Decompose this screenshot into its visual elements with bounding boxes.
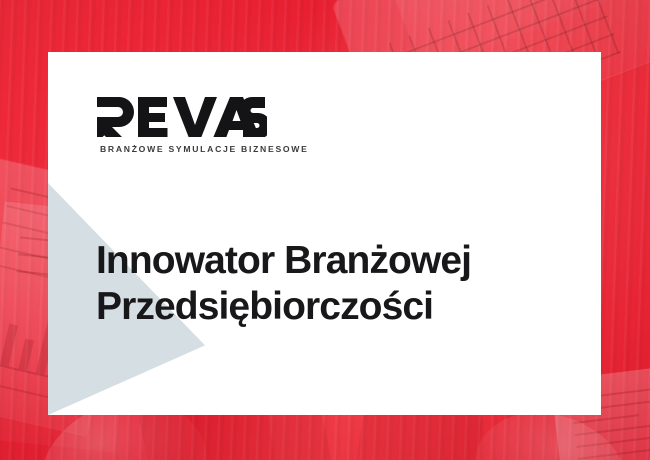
page-title-line-2: Przedsiębiorczości xyxy=(96,284,471,330)
revas-wordmark-glyphs xyxy=(97,97,267,137)
revas-tagline: BRANŻOWE SYMULACJE BIZNESOWE xyxy=(100,144,309,154)
revas-wordmark xyxy=(97,97,267,137)
slide-canvas: BRANŻOWE SYMULACJE BIZNESOWE Innowator B… xyxy=(0,0,650,460)
content-card: BRANŻOWE SYMULACJE BIZNESOWE Innowator B… xyxy=(48,52,601,415)
page-title-line-1: Innowator Branżowej xyxy=(96,238,471,284)
page-title: Innowator Branżowej Przedsiębiorczości xyxy=(96,238,471,330)
revas-logo: BRANŻOWE SYMULACJE BIZNESOWE xyxy=(97,97,309,154)
